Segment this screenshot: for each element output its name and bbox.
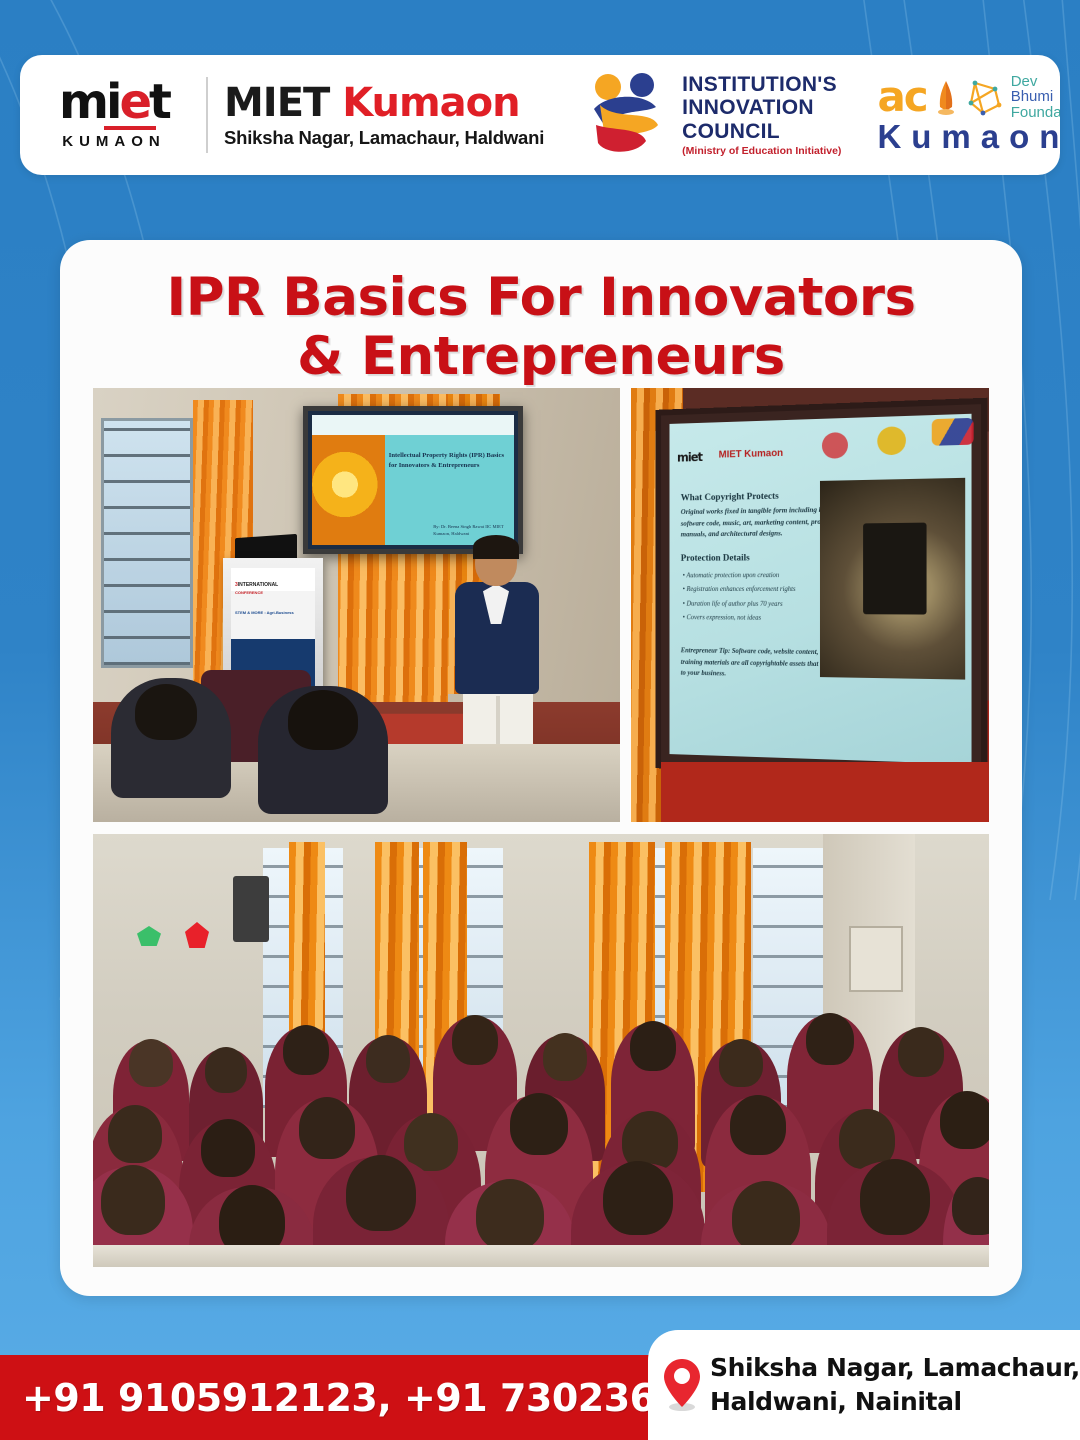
photo-row-top: Intellectual Property Rights (IPR) Basic…	[93, 388, 989, 822]
iic-logo-block: INSTITUTION'S INNOVATION COUNCIL (Minist…	[588, 69, 841, 161]
header-logo-bar: miet KUMAON MIET Kumaon Shiksha Nagar, L…	[20, 55, 1060, 175]
institute-address: Shiksha Nagar, Lamachaur, Haldwani	[224, 127, 544, 149]
institute-name: MIET Kumaon	[224, 82, 544, 124]
miet-logo-mark: miet KUMAON	[20, 80, 190, 151]
acic-logo-block: ac Dev	[877, 74, 1060, 157]
miet-wordmark-pre: mi	[59, 74, 119, 130]
p2-miet-mark: miet	[677, 450, 702, 464]
p1-slide-image	[312, 435, 385, 545]
photo-gallery: Intellectual Property Rights (IPR) Basic…	[93, 388, 989, 1268]
p2-slide-logos: miet MIET Kumaon	[677, 424, 963, 478]
p2-heading-1: What Copyright Protects	[681, 492, 779, 504]
page-title: IPR Basics For Innovators & Entrepreneur…	[60, 240, 1022, 387]
p3-floor	[93, 1245, 989, 1267]
miet-logo-sub: KUMAON	[38, 133, 190, 150]
miet-wordmark-e: e	[119, 74, 149, 130]
footer-address-panel: Shiksha Nagar, Lamachaur, Haldwani, Nain…	[648, 1330, 1080, 1440]
main-content-card: IPR Basics For Innovators & Entrepreneur…	[60, 240, 1022, 1296]
p1-attendee-1	[111, 678, 231, 798]
institute-name-block: MIET Kumaon Shiksha Nagar, Lamachaur, Ha…	[224, 82, 554, 149]
p1-window	[101, 418, 193, 668]
p2-stage-curtain	[661, 762, 989, 822]
location-pin-icon	[662, 1357, 702, 1413]
p2-seal-gov	[877, 426, 906, 455]
namaste-hands-icon	[931, 77, 961, 117]
dbf-dev: Dev	[1011, 74, 1060, 90]
p2-slide: miet MIET Kumaon What Copyright Protects…	[670, 414, 972, 764]
acic-kumaon-label: Kumaon	[877, 118, 1060, 156]
footer-phone-numbers[interactable]: +91 9105912123, +91 7302364613	[0, 1376, 759, 1420]
photo-speaker-presenting: Intellectual Property Rights (IPR) Basic…	[93, 388, 620, 822]
p2-seal-iic	[932, 418, 974, 446]
p3-speaker-box	[233, 876, 269, 942]
acic-network-icon	[965, 77, 1005, 117]
dbf-bhumi: Bhumi	[1011, 89, 1060, 105]
footer-address-text: Shiksha Nagar, Lamachaur, Haldwani, Nain…	[710, 1351, 1080, 1419]
p1-projection-screen: Intellectual Property Rights (IPR) Basic…	[303, 406, 523, 554]
miet-wordmark-post: t	[149, 74, 169, 130]
poster-root: miet KUMAON MIET Kumaon Shiksha Nagar, L…	[0, 0, 1080, 1440]
institute-name-red: Kumaon	[342, 80, 519, 126]
p2-heading-2: Protection Details	[681, 553, 750, 563]
p1-speaker-hair	[473, 535, 519, 559]
acic-ac-mark: ac	[877, 78, 926, 116]
title-line-2: & Entrepreneurs	[60, 327, 1022, 386]
title-line-1: IPR Basics For Innovators	[60, 268, 1022, 327]
photo-student-audience	[93, 834, 989, 1267]
dev-bhumi-foundation-text: Dev Bhumi Foundation	[1011, 74, 1060, 121]
iic-line3: COUNCIL	[682, 120, 841, 144]
institute-name-dark: MIET	[224, 80, 342, 126]
logo-divider	[206, 77, 208, 153]
miet-wordmark: miet	[59, 80, 169, 126]
photo-copyright-slide: miet MIET Kumaon What Copyright Protects…	[631, 388, 989, 822]
p1-banner-line2: CONFERENCE	[235, 590, 263, 595]
p1-slide-title: Intellectual Property Rights (IPR) Basic…	[389, 451, 509, 470]
p1-slide-logobar	[312, 415, 514, 435]
iic-ministry-note: (Ministry of Education Initiative)	[682, 145, 841, 157]
iic-emblem-icon	[588, 69, 672, 161]
p2-screen-frame: miet MIET Kumaon What Copyright Protects…	[656, 398, 988, 781]
iic-line1: INSTITUTION'S	[682, 73, 841, 97]
p2-miet-text: miet	[677, 450, 702, 464]
p1-banner-line1: 3INTERNATIONAL	[235, 582, 278, 588]
p3-crowd	[93, 957, 989, 1267]
footer-address-line-1: Shiksha Nagar, Lamachaur,	[710, 1351, 1080, 1385]
p2-slide-photo	[820, 478, 965, 680]
p1-banner-line3: STEM & MORE : Agri-Business	[235, 610, 294, 615]
iic-text-block: INSTITUTION'S INNOVATION COUNCIL (Minist…	[682, 73, 841, 158]
p1-slide: Intellectual Property Rights (IPR) Basic…	[312, 415, 514, 545]
p1-banner-conf: INTERNATIONAL	[238, 582, 278, 588]
iic-line2: INNOVATION	[682, 96, 841, 120]
acic-top-row: ac Dev	[877, 74, 1060, 121]
footer-address-line-2: Haldwani, Nainital	[710, 1385, 1080, 1419]
p2-seal-aicte	[822, 432, 848, 459]
p2-miet-kumaon: MIET Kumaon	[719, 448, 783, 461]
p1-attendee-2	[258, 686, 388, 814]
